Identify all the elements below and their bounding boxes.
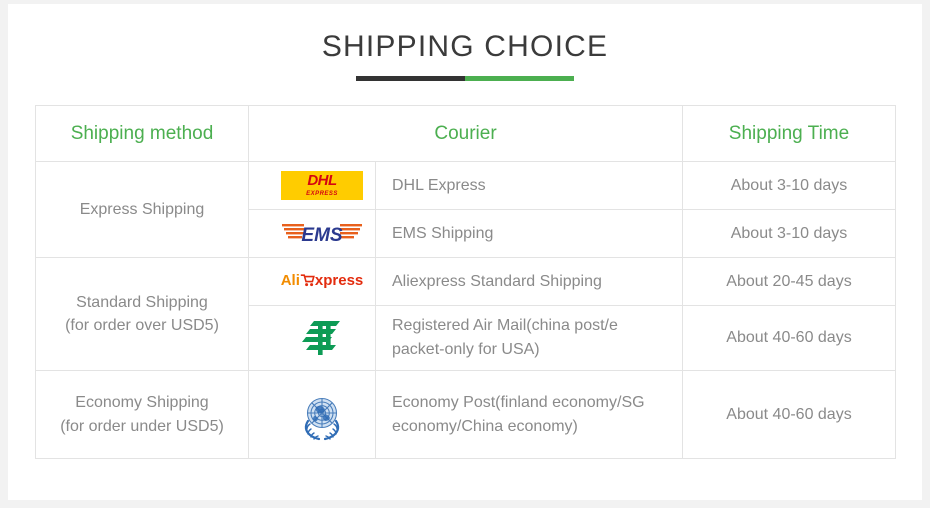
title-block: SHIPPING CHOICE (8, 4, 922, 81)
method-label-line1: Economy Shipping (75, 394, 208, 411)
aliexpress-logo: Alixpress (281, 271, 364, 293)
title-underline (356, 76, 574, 81)
table-row: Express Shipping DHL EXPRESS DHL Express… (36, 162, 896, 210)
table-row: Standard Shipping (for order over USD5) … (36, 258, 896, 306)
shipping-time-ems: About 3-10 days (683, 210, 896, 258)
dhl-logo-subtext: EXPRESS (281, 191, 363, 198)
title-underline-dark-segment (356, 76, 465, 81)
method-label-line2: (for order under USD5) (60, 418, 224, 435)
courier-name-dhl: DHL Express (376, 162, 683, 210)
shipping-time-china-post: About 40-60 days (683, 306, 896, 371)
aliexpress-logo-text-xpress: xpress (315, 272, 363, 289)
shipping-choice-card: SHIPPING CHOICE Shipping method Courier … (8, 4, 922, 500)
courier-name-united-nations: Economy Post(finland economy/SG economy/… (376, 371, 683, 459)
aliexpress-logo-text-ali: Ali (281, 272, 300, 289)
table-body: Express Shipping DHL EXPRESS DHL Express… (36, 162, 896, 459)
logo-cell-dhl: DHL EXPRESS (249, 162, 376, 210)
shipping-table-wrapper: Shipping method Courier Shipping Time Ex… (35, 105, 895, 459)
china-post-logo (300, 317, 344, 359)
courier-name-china-post: Registered Air Mail(china post/e packet-… (376, 306, 683, 371)
courier-name-ems: EMS Shipping (376, 210, 683, 258)
shopping-cart-icon (300, 273, 315, 293)
ems-logo-wordmark: EMS (301, 225, 343, 246)
column-header-shipping-method: Shipping method (36, 106, 249, 162)
title-underline-green-segment (465, 76, 574, 81)
shipping-time-aliexpress: About 20-45 days (683, 258, 896, 306)
shipping-table: Shipping method Courier Shipping Time Ex… (35, 105, 896, 459)
dhl-logo-wordmark: DHL (281, 172, 363, 189)
column-header-courier: Courier (249, 106, 683, 162)
method-cell-express: Express Shipping (36, 162, 249, 258)
table-header-row: Shipping method Courier Shipping Time (36, 106, 896, 162)
logo-cell-china-post (249, 306, 376, 371)
method-label-line1: Standard Shipping (76, 294, 208, 311)
method-cell-economy: Economy Shipping (for order under USD5) (36, 371, 249, 459)
column-header-shipping-time: Shipping Time (683, 106, 896, 162)
method-label-line1: Express Shipping (80, 201, 205, 218)
courier-name-aliexpress: Aliexpress Standard Shipping (376, 258, 683, 306)
shipping-time-dhl: About 3-10 days (683, 162, 896, 210)
dhl-logo: DHL EXPRESS (281, 171, 363, 200)
united-nations-logo (295, 389, 349, 441)
method-cell-standard: Standard Shipping (for order over USD5) (36, 258, 249, 371)
table-row: Economy Shipping (for order under USD5) (36, 371, 896, 459)
ems-logo: EMS (282, 220, 362, 248)
page-title: SHIPPING CHOICE (8, 30, 922, 63)
logo-cell-united-nations (249, 371, 376, 459)
logo-cell-ems: EMS (249, 210, 376, 258)
logo-cell-aliexpress: Alixpress (249, 258, 376, 306)
shipping-time-united-nations: About 40-60 days (683, 371, 896, 459)
table-header: Shipping method Courier Shipping Time (36, 106, 896, 162)
method-label-line2: (for order over USD5) (65, 317, 219, 334)
